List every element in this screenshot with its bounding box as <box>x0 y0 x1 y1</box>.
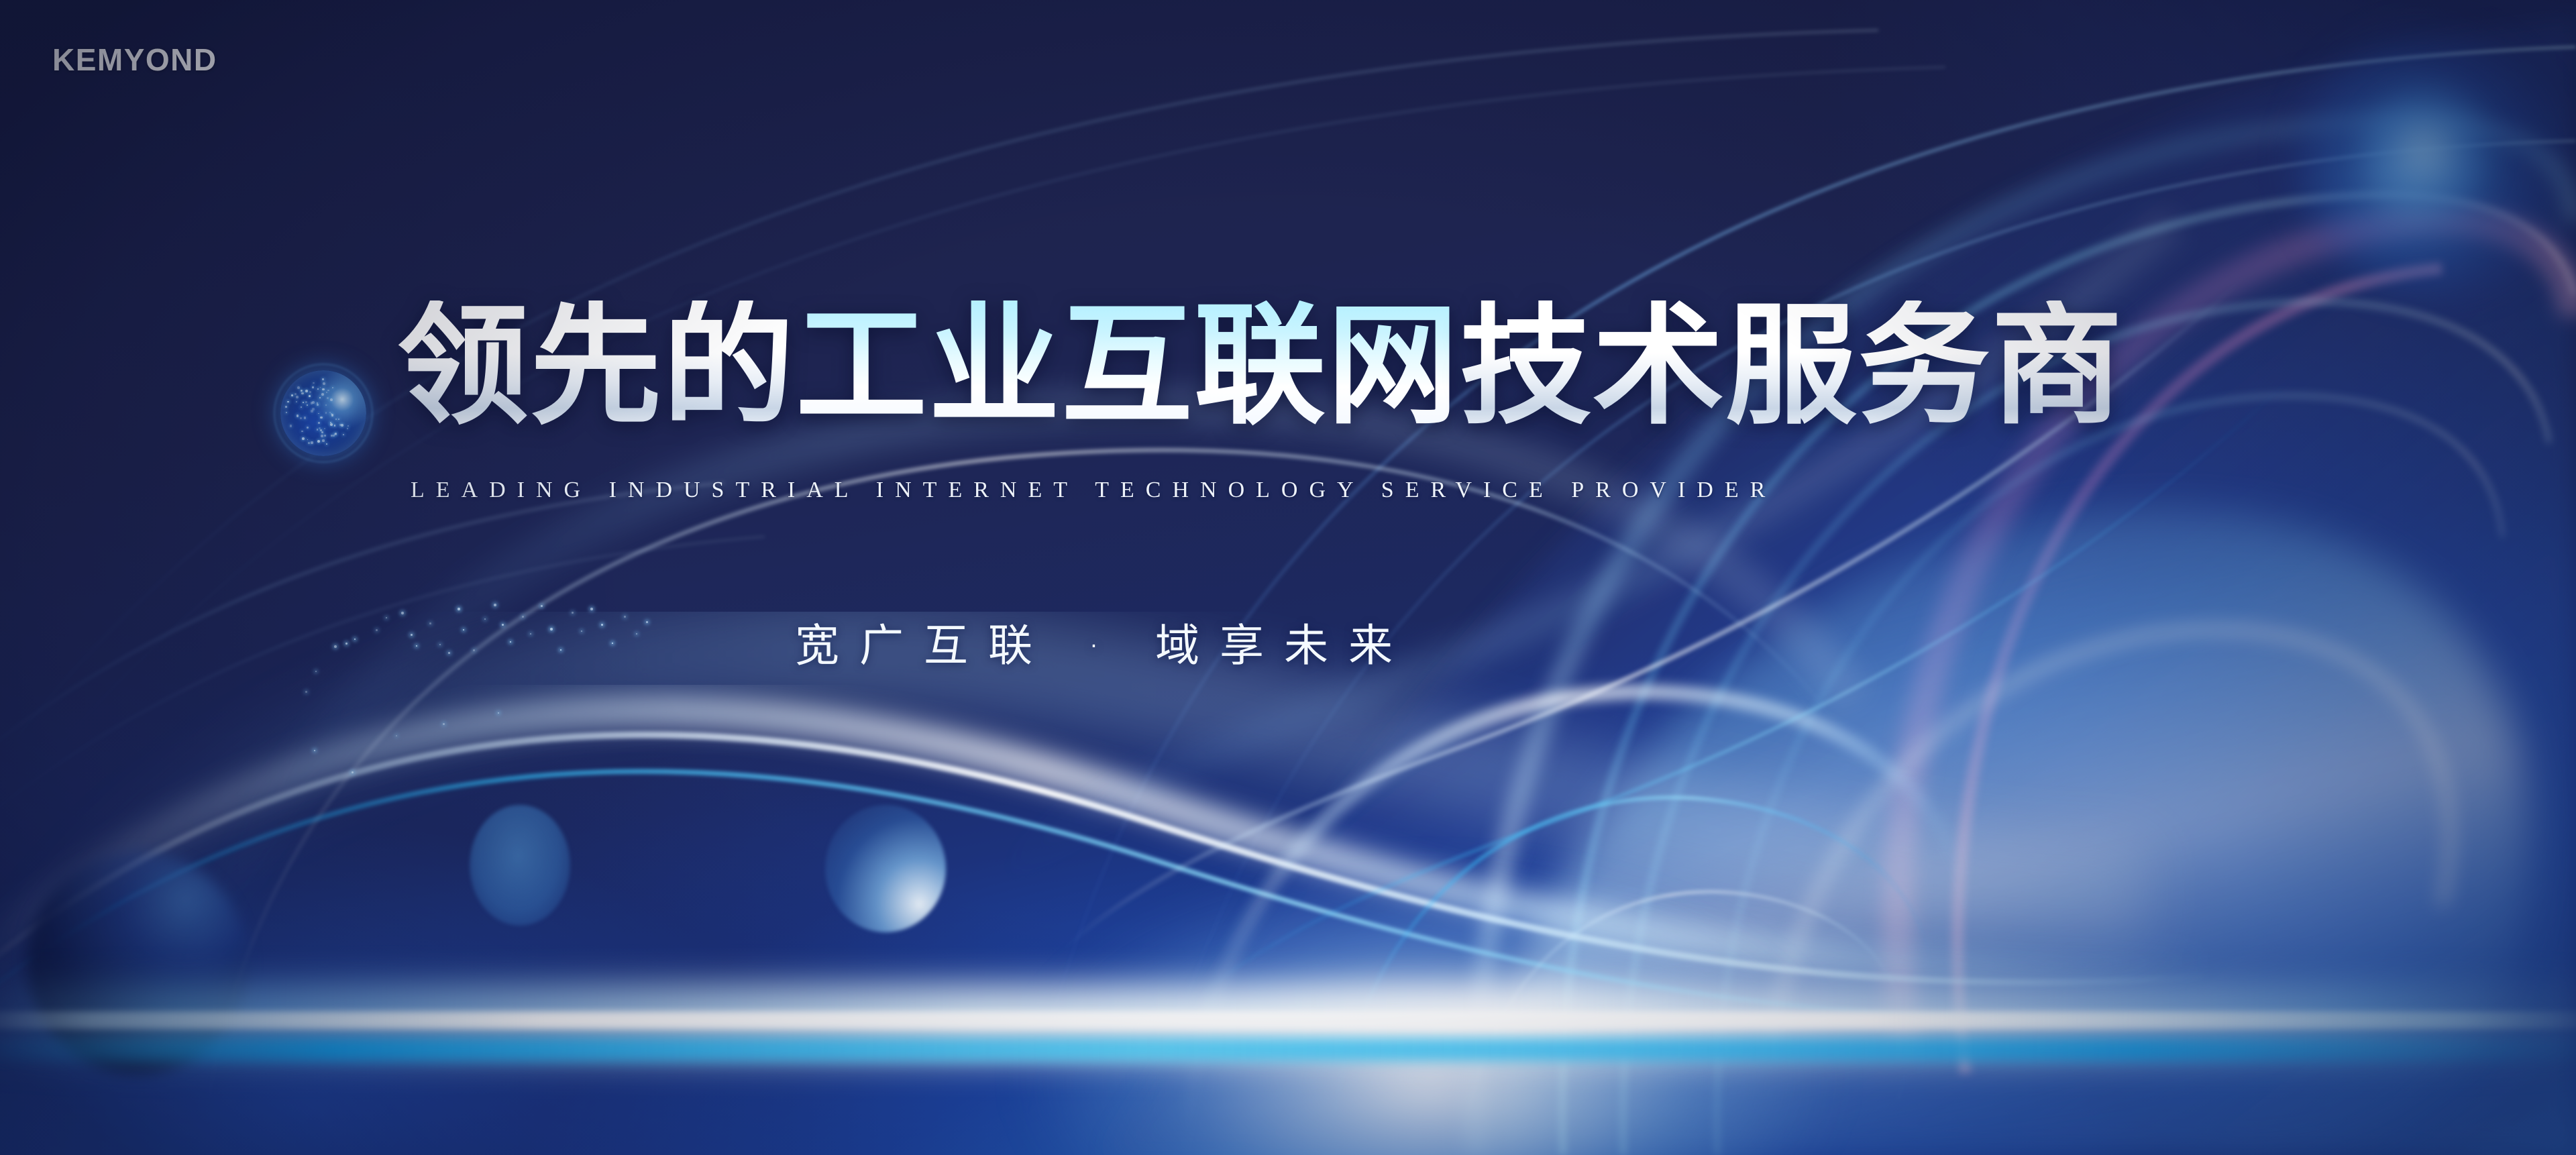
headline-part-highlight: 工业互联网 <box>796 300 1460 432</box>
page-tagline: 宽广互联 · 域享未来 <box>795 622 1413 669</box>
banner-canvas: KEMYOND 领先的工业互联网技术服务商 LEADING INDUSTRIAL… <box>0 0 2576 1155</box>
page-subtitle: LEADING INDUSTRIAL INTERNET TECHNOLOGY S… <box>411 478 2168 503</box>
text-content: KEMYOND 领先的工业互联网技术服务商 LEADING INDUSTRIAL… <box>0 0 2576 1155</box>
headline-part-lead: 领先的 <box>397 300 796 432</box>
page-title: 领先的工业互联网技术服务商 <box>397 300 2124 432</box>
headline-part-tail: 技术服务商 <box>1460 300 2124 432</box>
brand-logo: KEMYOND <box>52 42 217 78</box>
